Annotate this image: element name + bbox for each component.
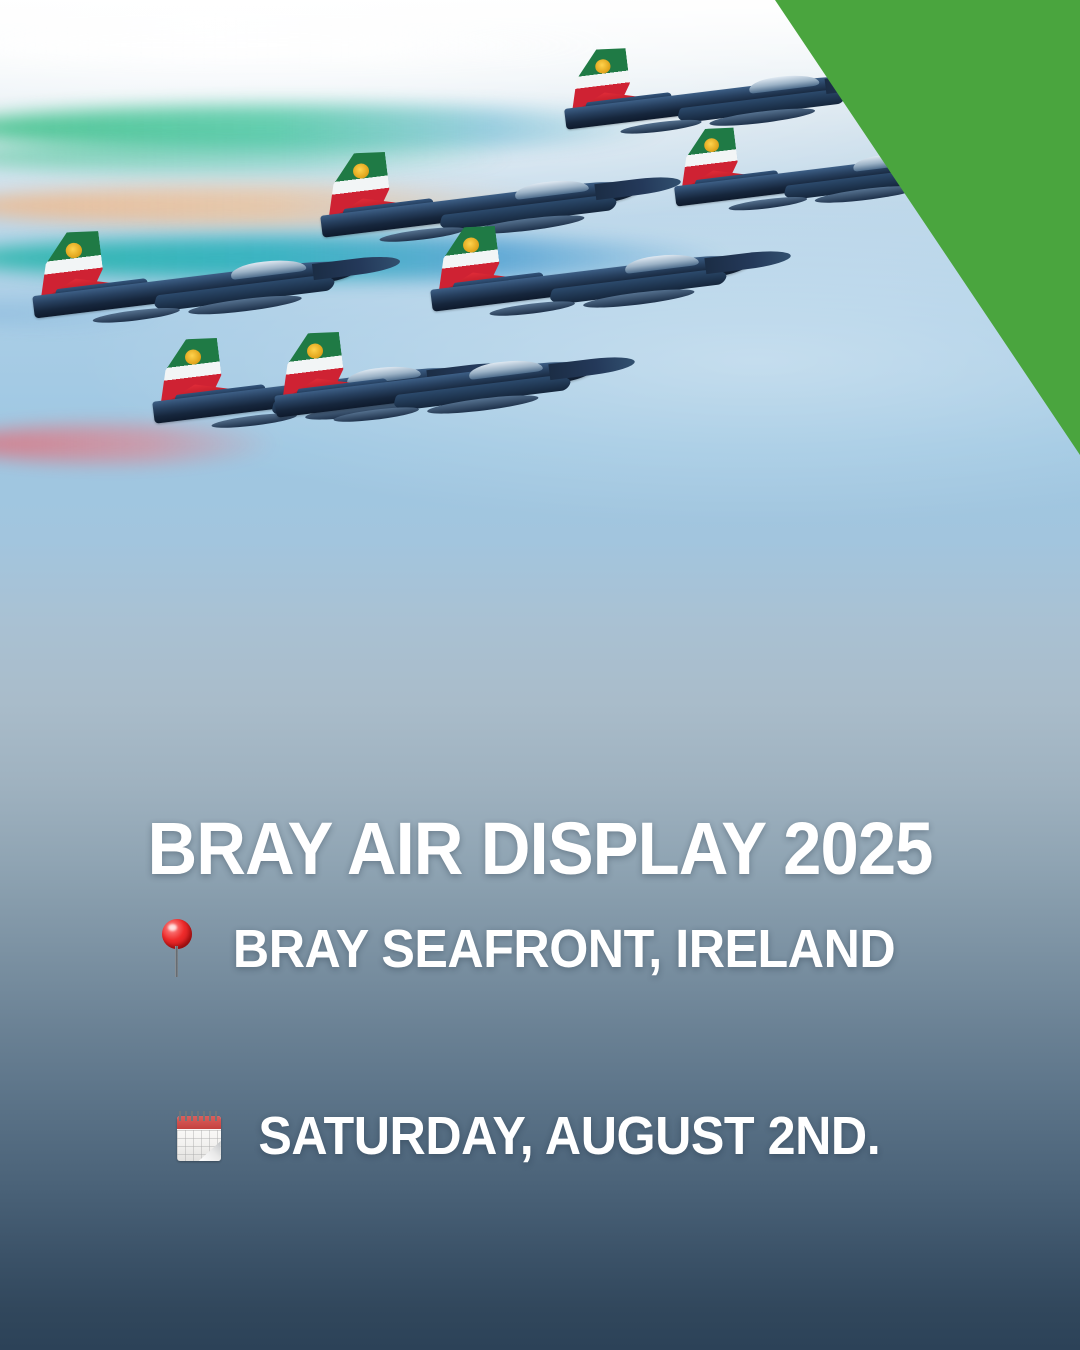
event-title: BRAY AIR DISPLAY 2025 [75, 812, 1005, 886]
poster-copy: BRAY AIR DISPLAY 2025 BRAY SEAFRONT, IRE… [0, 812, 1080, 1163]
event-location-line: BRAY SEAFRONT, IRELAND [40, 919, 1040, 979]
event-location-text: BRAY SEAFRONT, IRELAND [233, 922, 895, 976]
event-date-text: SATURDAY, AUGUST 2ND. [258, 1109, 880, 1163]
event-date-line: SATURDAY, AUGUST 2ND. [40, 1109, 1040, 1163]
poster-canvas: BRAY AIR DISPLAY 2025 BRAY SEAFRONT, IRE… [0, 0, 1080, 1350]
round-pushpin-icon [160, 919, 194, 979]
spiral-calendar-icon [177, 1111, 221, 1161]
